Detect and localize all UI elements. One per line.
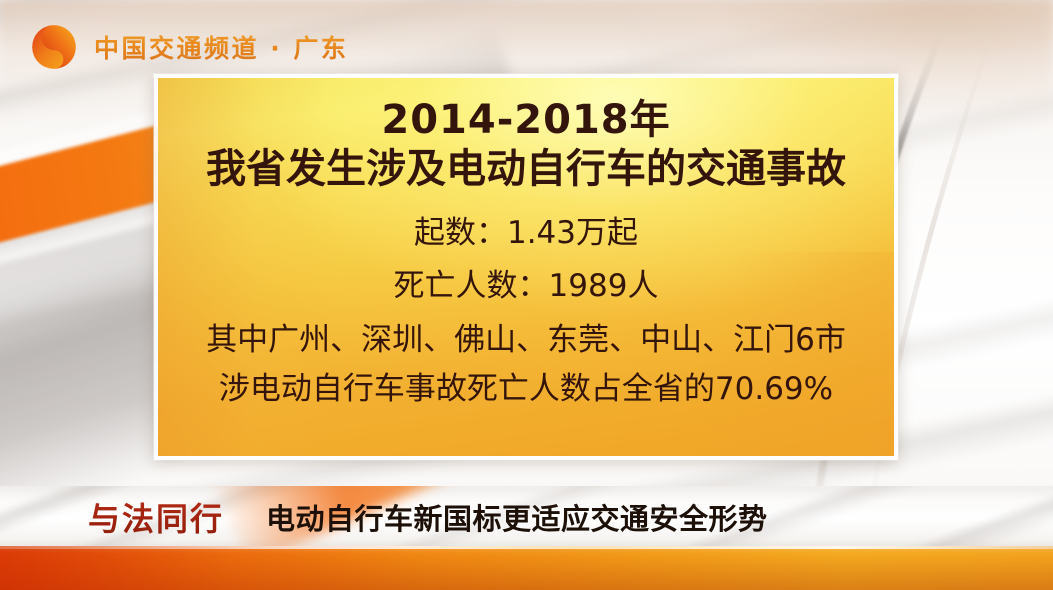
panel-title-line-2: 我省发生涉及电动自行车的交通事故 <box>206 146 846 193</box>
panel-stat-deaths: 死亡人数：1989人 <box>394 268 659 305</box>
lower-third-banner: 与法同行 电动自行车新国标更适应交通安全形势 <box>0 486 1053 590</box>
banner-bar-left-accent <box>0 546 420 590</box>
show-title-label: 与法同行 <box>88 494 224 540</box>
info-panel-content: 2014-2018年 我省发生涉及电动自行车的交通事故 起数：1.43万起 死亡… <box>158 78 894 456</box>
banner-orange-bar <box>0 546 1053 590</box>
broadcast-screen: 中国交通频道 · 广东 2014-2018年 我省发生涉及电动自行车的交通事故 … <box>0 0 1053 590</box>
banner-subtitle-label: 电动自行车新国标更适应交通安全形势 <box>266 496 768 538</box>
panel-stat-cases: 起数：1.43万起 <box>414 215 638 252</box>
banner-text-row: 与法同行 电动自行车新国标更适应交通安全形势 <box>0 486 1053 548</box>
info-panel: 2014-2018年 我省发生涉及电动自行车的交通事故 起数：1.43万起 死亡… <box>154 74 898 460</box>
panel-body-line-2: 涉电动自行车事故死亡人数占全省的70.69% <box>219 371 833 409</box>
panel-body-line-1: 其中广州、深圳、佛山、东莞、中山、江门6市 <box>206 322 846 360</box>
channel-name-label: 中国交通频道 · 广东 <box>94 29 348 65</box>
panel-title-line-1: 2014-2018年 <box>381 98 670 142</box>
channel-spiral-logo-icon <box>28 21 80 73</box>
channel-header: 中国交通频道 · 广东 <box>28 22 348 72</box>
